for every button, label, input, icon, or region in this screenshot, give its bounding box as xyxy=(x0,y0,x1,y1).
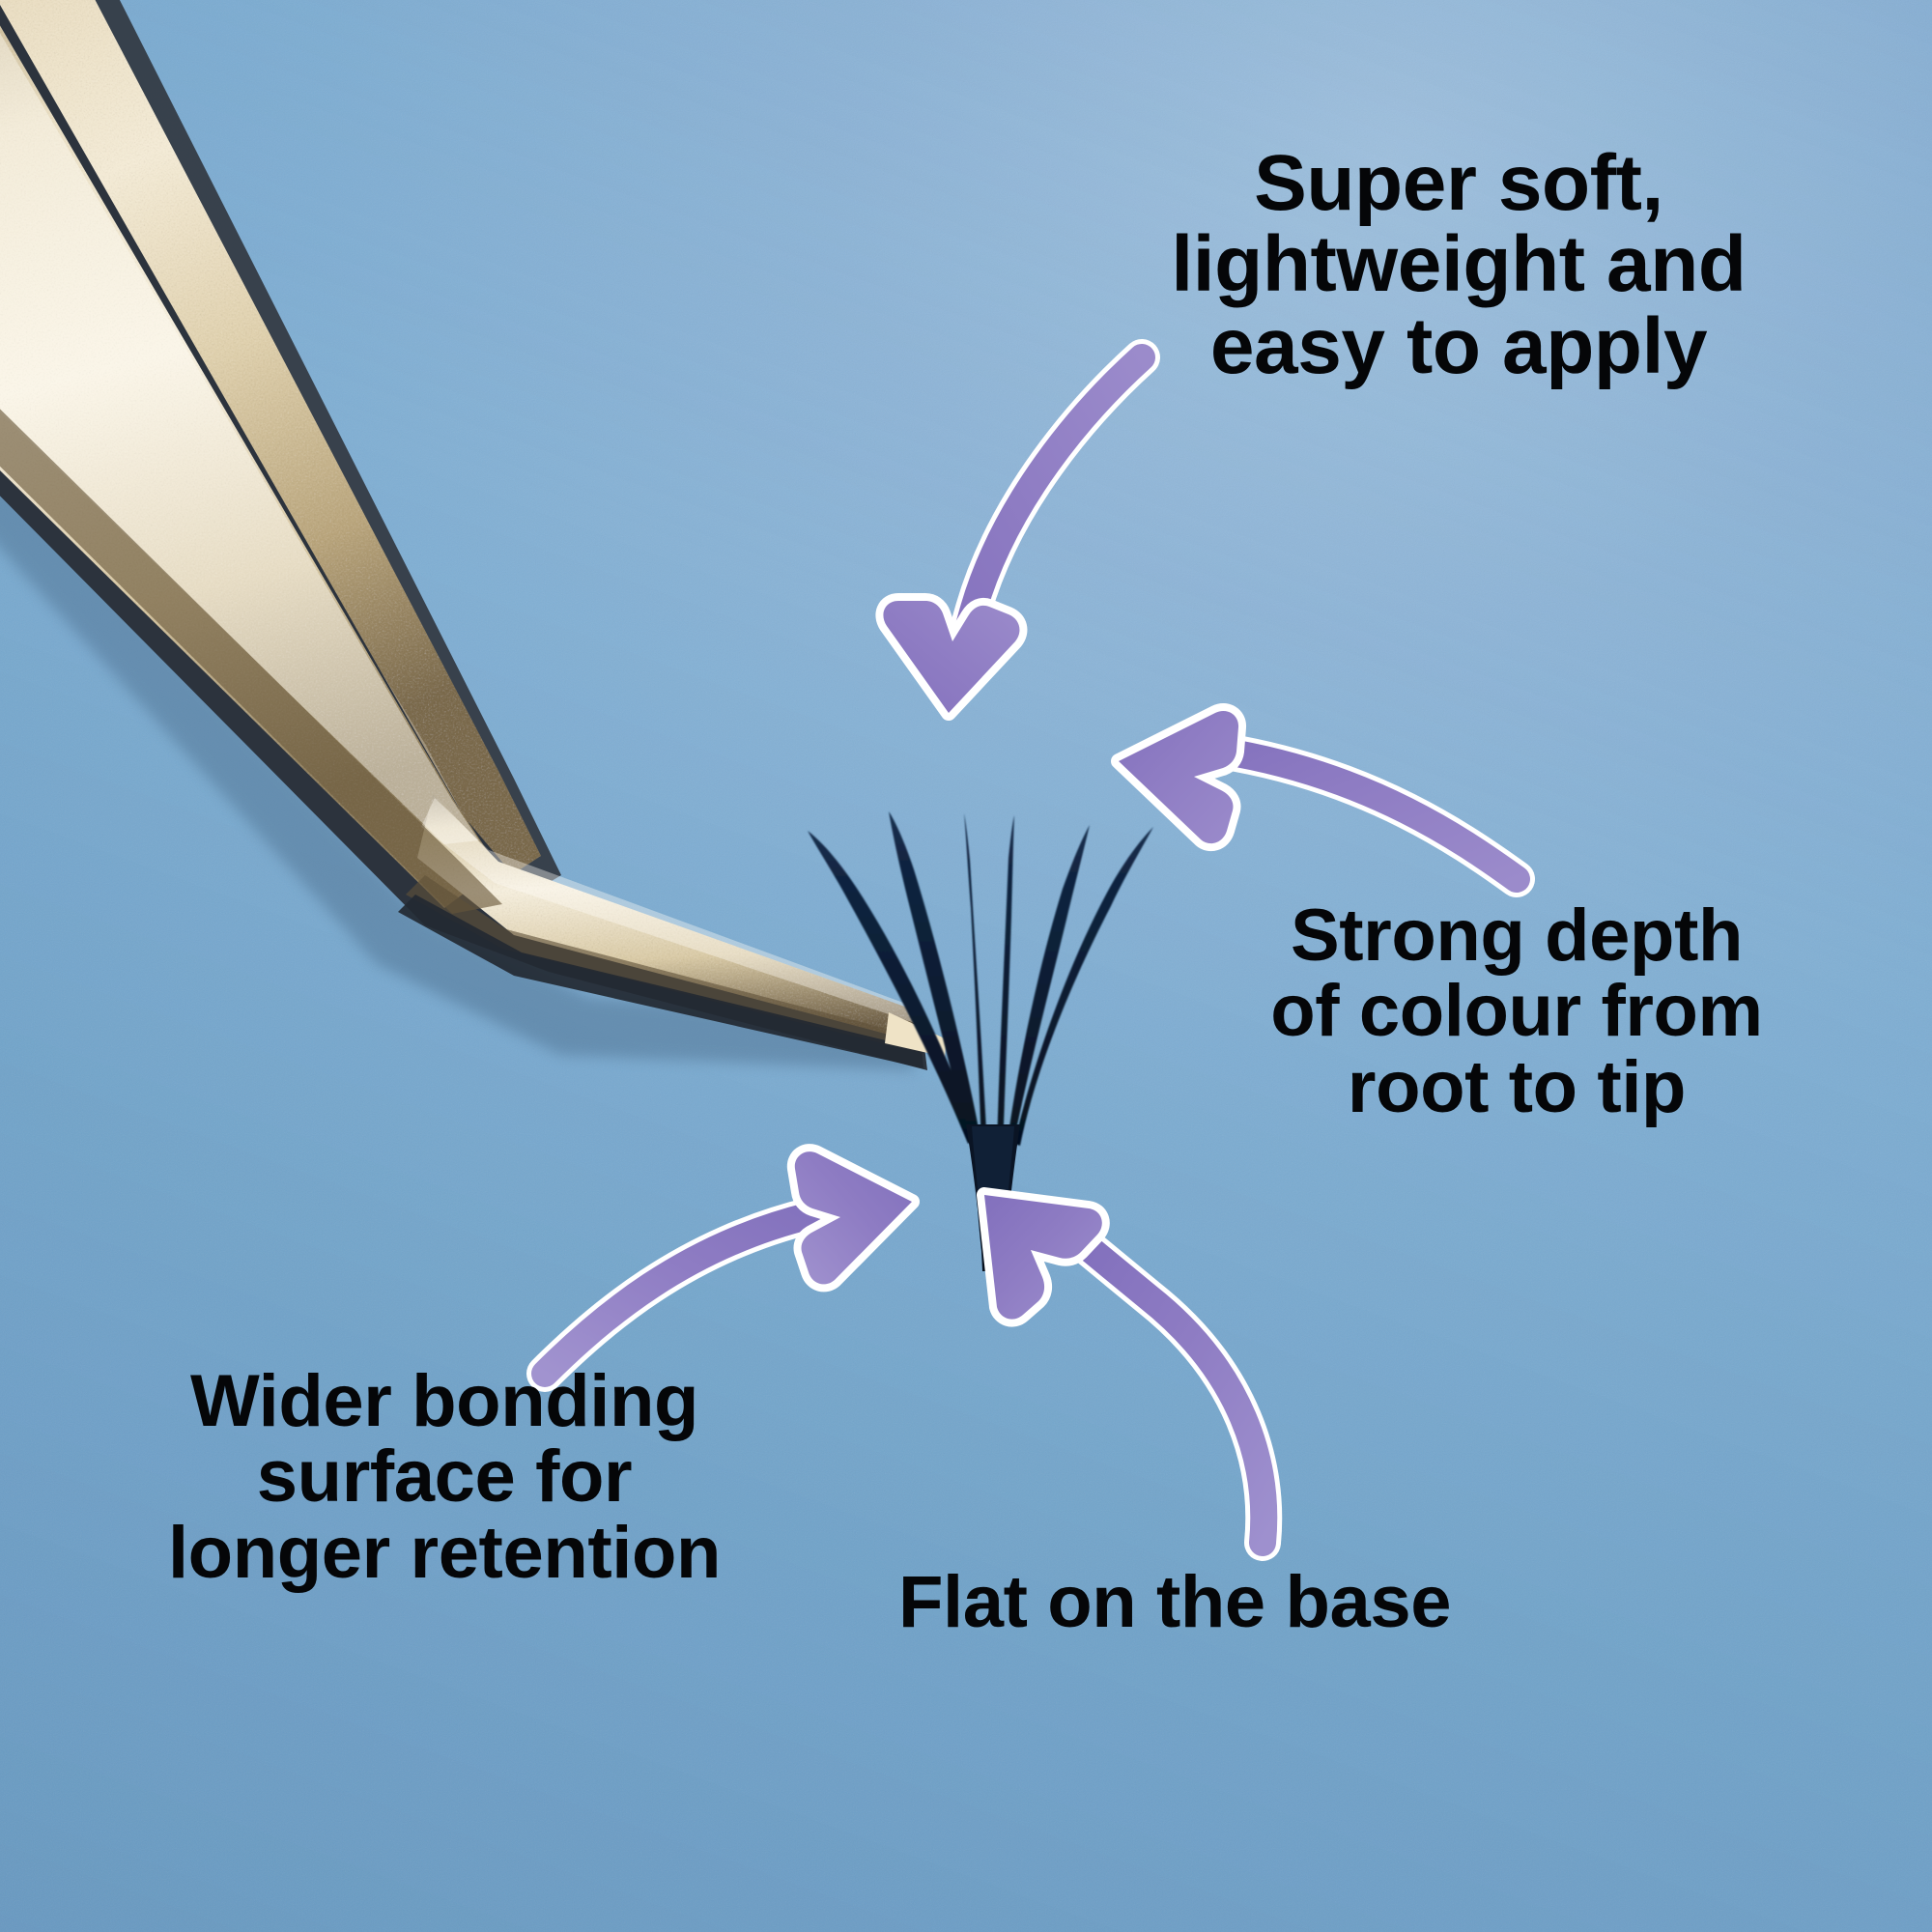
caption-wider-bonding: Wider bonding surface for longer retenti… xyxy=(97,1364,792,1591)
infographic-canvas: Super soft, lightweight and easy to appl… xyxy=(0,0,1932,1932)
arrow-to-lash-body-icon xyxy=(1101,676,1546,927)
caption-flat-base: Flat on the base xyxy=(898,1565,1633,1640)
arrow-to-flat-base-icon xyxy=(952,1174,1319,1579)
caption-super-soft: Super soft, lightweight and easy to appl… xyxy=(1082,143,1835,387)
caption-strong-depth: Strong depth of colour from root to tip xyxy=(1188,898,1845,1125)
